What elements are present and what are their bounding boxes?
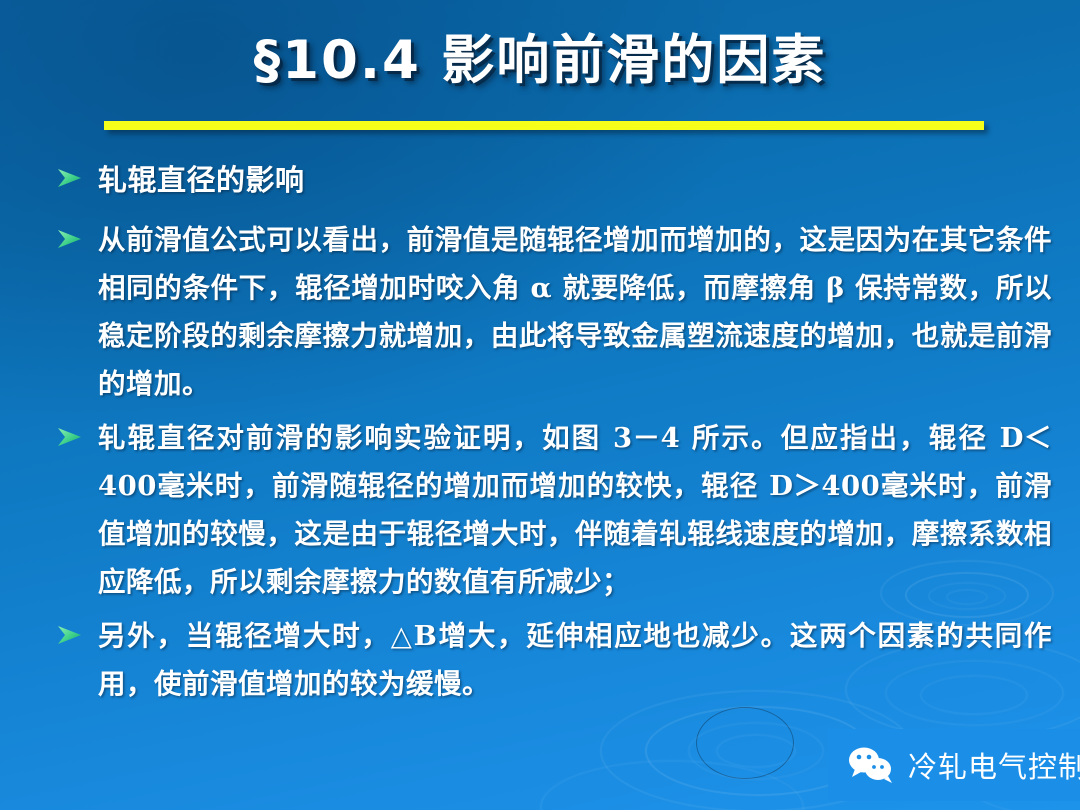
list-item: 轧辊直径的影响 xyxy=(52,158,1052,202)
title-zone: §10.4 影响前滑的因素 xyxy=(0,18,1080,94)
list-item-label: 另外，当辊径增大时，△B增大，延伸相应地也减少。这两个因素的共同作用，使前滑值增… xyxy=(98,612,1052,708)
list-item-label: 从前滑值公式可以看出，前滑值是随辊径增加而增加的，这是因为在其它条件相同的条件下… xyxy=(98,216,1052,408)
presentation-slide: §10.4 影响前滑的因素 轧辊直径的影响 xyxy=(0,0,1080,810)
wechat-watermark: 冷轧电气控制 xyxy=(828,729,1080,801)
arrow-bullet-icon xyxy=(56,228,84,250)
page-title: §10.4 影响前滑的因素 xyxy=(254,18,827,94)
body-content: 轧辊直径的影响 从前滑值公式可以看出，前滑值是随辊径增加而增加的，这是因为在其它… xyxy=(52,158,1052,708)
wechat-icon xyxy=(846,745,896,785)
divider-line xyxy=(104,121,984,130)
wechat-label: 冷轧电气控制 xyxy=(908,744,1080,786)
list-item: 轧辊直径对前滑的影响实验证明，如图 3－4 所示。但应指出，辊径 D＜400毫米… xyxy=(52,414,1052,606)
arrow-bullet-icon xyxy=(56,426,84,448)
arrow-bullet-icon xyxy=(56,624,84,646)
list-item-label: 轧辊直径的影响 xyxy=(98,158,1052,202)
list-item: 另外，当辊径增大时，△B增大，延伸相应地也减少。这两个因素的共同作用，使前滑值增… xyxy=(52,612,1052,708)
list-item: 从前滑值公式可以看出，前滑值是随辊径增加而增加的，这是因为在其它条件相同的条件下… xyxy=(52,216,1052,408)
title-divider xyxy=(104,121,984,133)
arrow-bullet-icon xyxy=(56,167,84,189)
list-item-label: 轧辊直径对前滑的影响实验证明，如图 3－4 所示。但应指出，辊径 D＜400毫米… xyxy=(98,414,1052,606)
